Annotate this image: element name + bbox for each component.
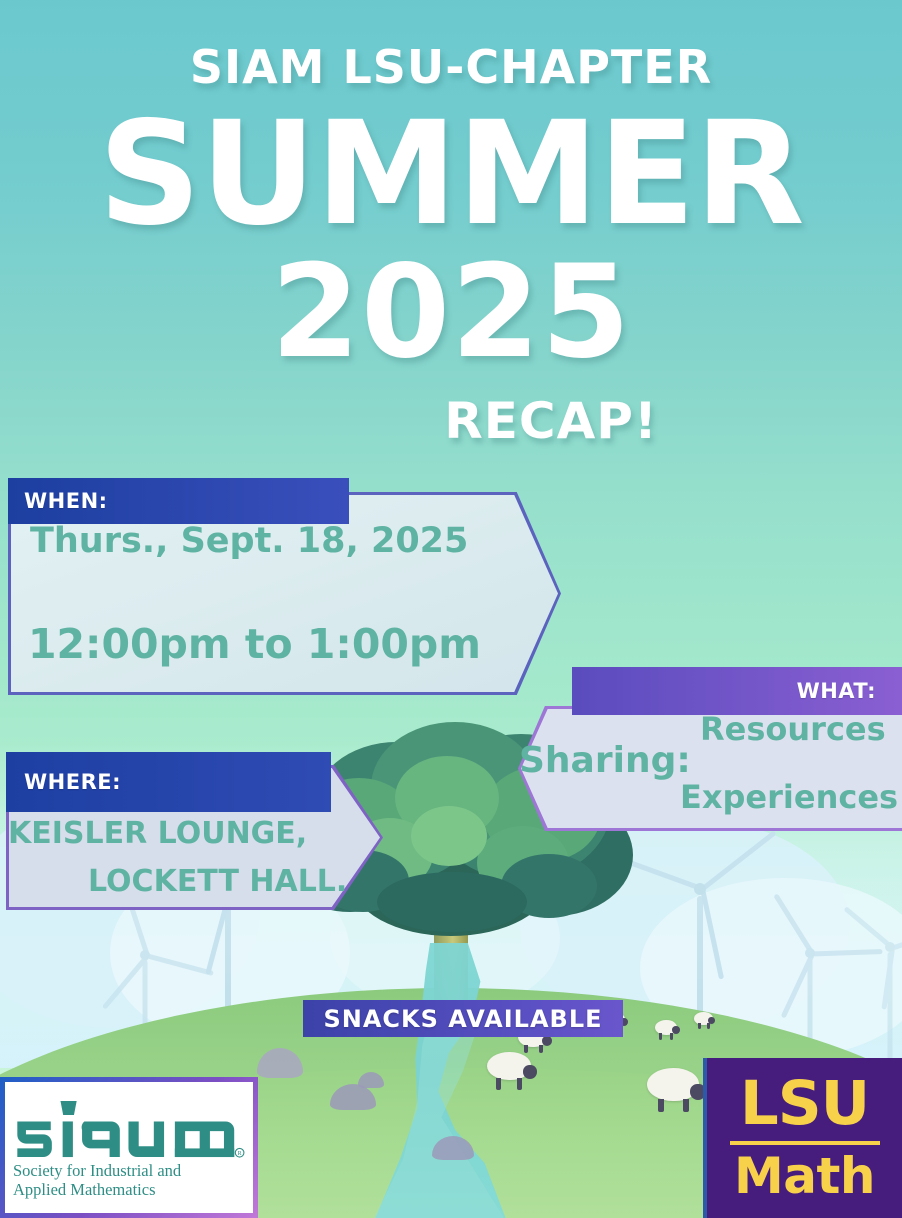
- lsu-logo-rule: [730, 1141, 880, 1145]
- when-time-text: 12:00pm to 1:00pm: [28, 620, 481, 668]
- siam-subtitle: Society for Industrial and Applied Mathe…: [13, 1162, 245, 1200]
- what-label-text: WHAT:: [797, 679, 876, 703]
- tree-canopy: [411, 806, 487, 866]
- lsu-math-logo: LSU Math: [703, 1058, 902, 1218]
- what-item-experiences: Experiences: [680, 778, 898, 816]
- siam-subtitle-line2: Applied Mathematics: [13, 1181, 245, 1200]
- where-label-text: WHERE:: [24, 770, 121, 794]
- siam-wordmark: R: [13, 1098, 245, 1160]
- siam-logo: R Society for Industrial and Applied Mat…: [0, 1077, 258, 1218]
- what-item-resources: Resources: [700, 710, 886, 748]
- poster-canvas: SIAM LSU-CHAPTER SUMMER 2025 RECAP! WHEN…: [0, 0, 902, 1218]
- siam-subtitle-line1: Society for Industrial and: [13, 1162, 245, 1181]
- page-year: 2025: [0, 252, 902, 374]
- sheep: [487, 1052, 539, 1090]
- page-kicker: SIAM LSU-CHAPTER: [0, 40, 902, 94]
- where-line1-text: KEISLER LOUNGE,: [8, 816, 307, 851]
- when-label-tab: WHEN:: [8, 478, 349, 524]
- snacks-banner-text: SNACKS AVAILABLE: [323, 1005, 602, 1033]
- when-label-text: WHEN:: [24, 489, 108, 513]
- page-subtitle: RECAP!: [0, 392, 902, 450]
- when-date-text: Thurs., Sept. 18, 2025: [30, 521, 468, 561]
- tree-canopy: [377, 872, 527, 932]
- page-title: SUMMER: [0, 108, 902, 240]
- sheep: [694, 1012, 716, 1030]
- what-label-tab: WHAT:: [572, 667, 902, 715]
- sheep: [647, 1068, 709, 1112]
- svg-text:R: R: [238, 1151, 242, 1157]
- what-sharing-text: Sharing:: [519, 740, 691, 781]
- lsu-logo-text: LSU: [740, 1075, 869, 1133]
- where-label-tab: WHERE:: [6, 752, 331, 812]
- snacks-banner: SNACKS AVAILABLE: [303, 1000, 623, 1037]
- sheep: [655, 1020, 681, 1040]
- lsu-math-text: Math: [734, 1151, 875, 1201]
- where-line2-text: LOCKETT HALL.: [88, 864, 347, 899]
